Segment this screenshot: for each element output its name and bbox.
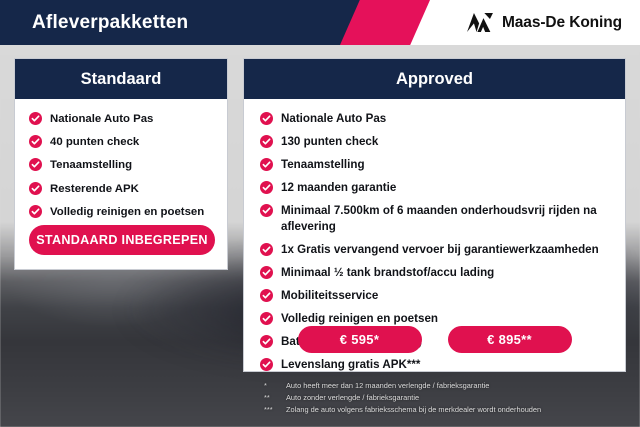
list-item-label: Mobiliteitsservice bbox=[281, 288, 378, 304]
list-item-label: Nationale Auto Pas bbox=[281, 111, 386, 127]
list-item-label: Minimaal ½ tank brandstof/accu lading bbox=[281, 265, 494, 281]
afleverpakketten-page: Afleverpakketten Maas-De Koning Standaar… bbox=[0, 0, 640, 427]
list-item-label: Tenaamstelling bbox=[50, 157, 132, 173]
card-standaard: Standaard Nationale Auto Pas 40 punten c… bbox=[14, 58, 228, 270]
list-item: 1x Gratis vervangend vervoer bij garanti… bbox=[260, 242, 609, 258]
list-item: Mobiliteitsservice bbox=[260, 288, 609, 304]
list-item: 40 punten check bbox=[29, 134, 213, 150]
list-item-label: Resterende APK bbox=[50, 181, 139, 197]
footnote: ** Auto zonder verlengde / fabrieksgaran… bbox=[264, 392, 620, 404]
list-item-label: 12 maanden garantie bbox=[281, 180, 396, 196]
list-item: Tenaamstelling bbox=[29, 157, 213, 173]
card-approved-title: Approved bbox=[244, 59, 625, 99]
list-item: Nationale Auto Pas bbox=[29, 111, 213, 127]
footnote-mark: *** bbox=[264, 404, 280, 416]
card-standaard-body: Nationale Auto Pas 40 punten check Tenaa… bbox=[15, 99, 227, 220]
list-item-label: Tenaamstelling bbox=[281, 157, 365, 173]
price-button-895[interactable]: € 895** bbox=[448, 326, 572, 353]
footnote: *** Zolang de auto volgens fabrieksschem… bbox=[264, 404, 620, 416]
check-circle-icon bbox=[260, 135, 273, 148]
list-item-label: Levenslang gratis APK*** bbox=[281, 357, 420, 373]
list-item: Resterende APK bbox=[29, 181, 213, 197]
brand-logo: Maas-De Koning bbox=[467, 0, 622, 45]
standaard-inbegrepen-button[interactable]: STANDAARD INBEGREPEN bbox=[29, 225, 215, 255]
brand-name: Maas-De Koning bbox=[502, 14, 622, 32]
check-circle-icon bbox=[260, 112, 273, 125]
list-item-label: Volledig reinigen en poetsen bbox=[50, 204, 204, 220]
check-circle-icon bbox=[29, 205, 42, 218]
list-item: Nationale Auto Pas bbox=[260, 111, 609, 127]
check-circle-icon bbox=[29, 158, 42, 171]
list-item: 130 punten check bbox=[260, 134, 609, 150]
list-item-label: Nationale Auto Pas bbox=[50, 111, 153, 127]
list-item: Tenaamstelling bbox=[260, 157, 609, 173]
standaard-feature-list: Nationale Auto Pas 40 punten check Tenaa… bbox=[29, 111, 213, 220]
list-item: Levenslang gratis APK*** bbox=[260, 357, 609, 373]
footnote-text: Auto zonder verlengde / fabrieksgarantie bbox=[286, 392, 419, 404]
check-circle-icon bbox=[29, 135, 42, 148]
check-circle-icon bbox=[260, 289, 273, 302]
price-button-row: € 595* € 895** bbox=[244, 326, 625, 353]
footnote-text: Auto heeft meer dan 12 maanden verlengde… bbox=[286, 380, 489, 392]
card-approved: Approved Nationale Auto Pas 130 punten c… bbox=[243, 58, 626, 372]
list-item: Minimaal ½ tank brandstof/accu lading bbox=[260, 265, 609, 281]
card-standaard-title: Standaard bbox=[15, 59, 227, 99]
footnote: * Auto heeft meer dan 12 maanden verleng… bbox=[264, 380, 620, 392]
check-circle-icon bbox=[260, 204, 273, 217]
check-circle-icon bbox=[260, 243, 273, 256]
footnotes: * Auto heeft meer dan 12 maanden verleng… bbox=[264, 380, 620, 416]
list-item-label: 40 punten check bbox=[50, 134, 139, 150]
list-item: 12 maanden garantie bbox=[260, 180, 609, 196]
check-circle-icon bbox=[29, 182, 42, 195]
footnote-text: Zolang de auto volgens fabrieksschema bi… bbox=[286, 404, 541, 416]
list-item-label: Minimaal 7.500km of 6 maanden onderhouds… bbox=[281, 203, 609, 236]
check-circle-icon bbox=[29, 112, 42, 125]
list-item-label: 1x Gratis vervangend vervoer bij garanti… bbox=[281, 242, 599, 258]
footnote-mark: * bbox=[264, 380, 280, 392]
check-circle-icon bbox=[260, 266, 273, 279]
check-circle-icon bbox=[260, 358, 273, 371]
page-header: Afleverpakketten Maas-De Koning bbox=[0, 0, 640, 45]
maas-de-koning-m-mark-icon bbox=[467, 13, 493, 32]
list-item: Minimaal 7.500km of 6 maanden onderhouds… bbox=[260, 203, 609, 236]
footnote-mark: ** bbox=[264, 392, 280, 404]
list-item-label: 130 punten check bbox=[281, 134, 378, 150]
check-circle-icon bbox=[260, 312, 273, 325]
check-circle-icon bbox=[260, 181, 273, 194]
list-item: Volledig reinigen en poetsen bbox=[29, 204, 213, 220]
page-title: Afleverpakketten bbox=[32, 0, 188, 45]
price-button-595[interactable]: € 595* bbox=[298, 326, 422, 353]
check-circle-icon bbox=[260, 158, 273, 171]
